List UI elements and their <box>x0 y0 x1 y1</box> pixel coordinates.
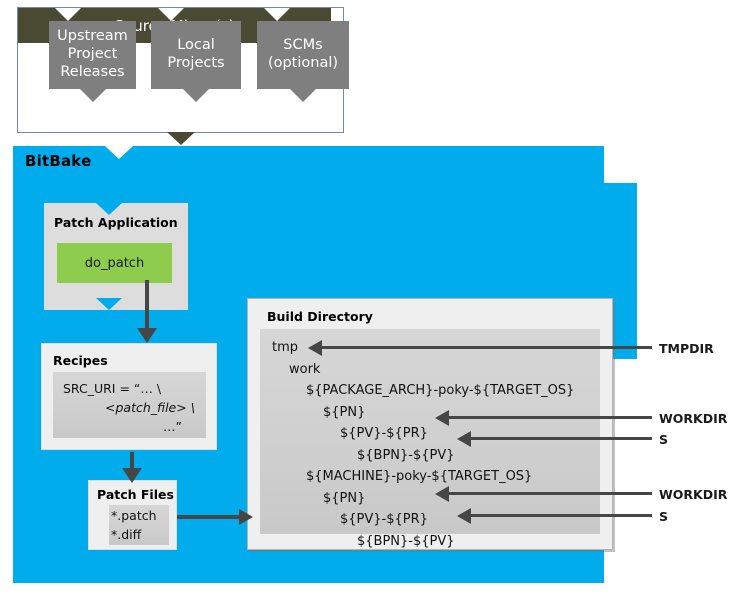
tree-node: ${PV}-${PR} <box>260 423 600 445</box>
arrow-workdir-2-head <box>435 486 449 502</box>
source-box-label: LocalProjects <box>167 36 224 72</box>
mirror-notch-2 <box>158 8 184 21</box>
recipes-code-line: SRC_URI = “… \ <box>63 379 206 398</box>
arrow-patchfiles-builddir-line <box>177 515 243 519</box>
source-box-scms-optional: SCMs(optional) <box>257 21 349 89</box>
arrow-patchfiles-builddir-head <box>239 509 253 525</box>
build-directory-panel: Build Directory tmpwork${PACKAGE_ARCH}-p… <box>247 298 613 550</box>
build-directory-title: Build Directory <box>267 309 373 324</box>
tree-node: ${PACKAGE_ARCH}-poky-${TARGET_OS} <box>260 380 600 402</box>
mirror-notch-3 <box>264 8 290 21</box>
patch-files-list: *.patch *.diff <box>109 505 169 545</box>
do-patch-label: do_patch <box>85 256 144 271</box>
arrow-workdir-1-head <box>435 410 449 426</box>
arrow-s-1-head <box>457 431 471 447</box>
patch-file-placeholder: <patch_file> \ <box>105 400 195 415</box>
arrow-dopatch-recipes-line <box>145 280 149 332</box>
tree-node: ${PN} <box>260 402 600 424</box>
arrow-s-1-line <box>465 437 652 440</box>
arrow-workdir-2-line <box>443 492 652 495</box>
bitbake-top-notch <box>105 146 133 159</box>
mirror-notch-1 <box>55 8 81 21</box>
patch-files-panel: Patch Files *.patch *.diff <box>88 480 177 550</box>
arrow-s-2-line <box>465 514 652 517</box>
tree-node: ${PN} <box>260 488 600 510</box>
label-s-1: S <box>659 432 668 447</box>
mirror-down-tip <box>167 132 195 145</box>
tree-node: ${BPN}-${PV} <box>260 445 600 467</box>
tree-node: work <box>260 359 600 381</box>
patch-application-top-notch <box>96 203 122 215</box>
recipes-code-block: SRC_URI = “… \ <patch_file> \ …” <box>53 372 206 438</box>
list-item: *.diff <box>111 525 169 544</box>
tree-node: ${PV}-${PR} <box>260 509 600 531</box>
source-box-label: SCMs(optional) <box>268 36 338 72</box>
patch-application-panel: Patch Application do_patch <box>44 203 188 310</box>
recipes-code-line: <patch_file> \ <box>63 398 206 417</box>
recipes-panel: Recipes SRC_URI = “… \ <patch_file> \ …” <box>41 343 217 450</box>
source-box-upstream-project-releases: UpstreamProjectReleases <box>49 21 136 89</box>
arrow-recipes-patchfiles-head <box>122 468 142 483</box>
patch-application-title: Patch Application <box>54 215 178 230</box>
bitbake-label: BitBake <box>25 152 91 170</box>
source-panel: UpstreamProjectReleases LocalProjects SC… <box>17 7 344 133</box>
label-workdir-1: WORKDIR <box>659 411 727 426</box>
arrow-tmpdir-head <box>308 340 322 356</box>
patch-files-title: Patch Files <box>97 487 174 502</box>
recipes-code-line: …” <box>63 417 206 436</box>
patch-application-bottom-notch <box>96 298 122 310</box>
list-item: *.patch <box>111 506 169 525</box>
build-directory-tree: tmpwork${PACKAGE_ARCH}-poky-${TARGET_OS}… <box>260 329 600 534</box>
label-s-2: S <box>659 509 668 524</box>
label-tmpdir: TMPDIR <box>659 341 714 356</box>
arrow-dopatch-recipes-head <box>137 328 157 343</box>
do-patch-task[interactable]: do_patch <box>57 243 172 283</box>
tree-node: ${BPN}-${PV} <box>260 531 600 553</box>
tree-node: ${MACHINE}-poky-${TARGET_OS} <box>260 466 600 488</box>
arrow-tmpdir-line <box>316 346 652 349</box>
arrow-s-2-head <box>457 508 471 524</box>
label-workdir-2: WORKDIR <box>659 487 727 502</box>
source-box-label: UpstreamProjectReleases <box>57 27 128 81</box>
source-box-local-projects: LocalProjects <box>151 21 241 89</box>
arrow-workdir-1-line <box>443 416 652 419</box>
recipes-title: Recipes <box>53 353 108 368</box>
